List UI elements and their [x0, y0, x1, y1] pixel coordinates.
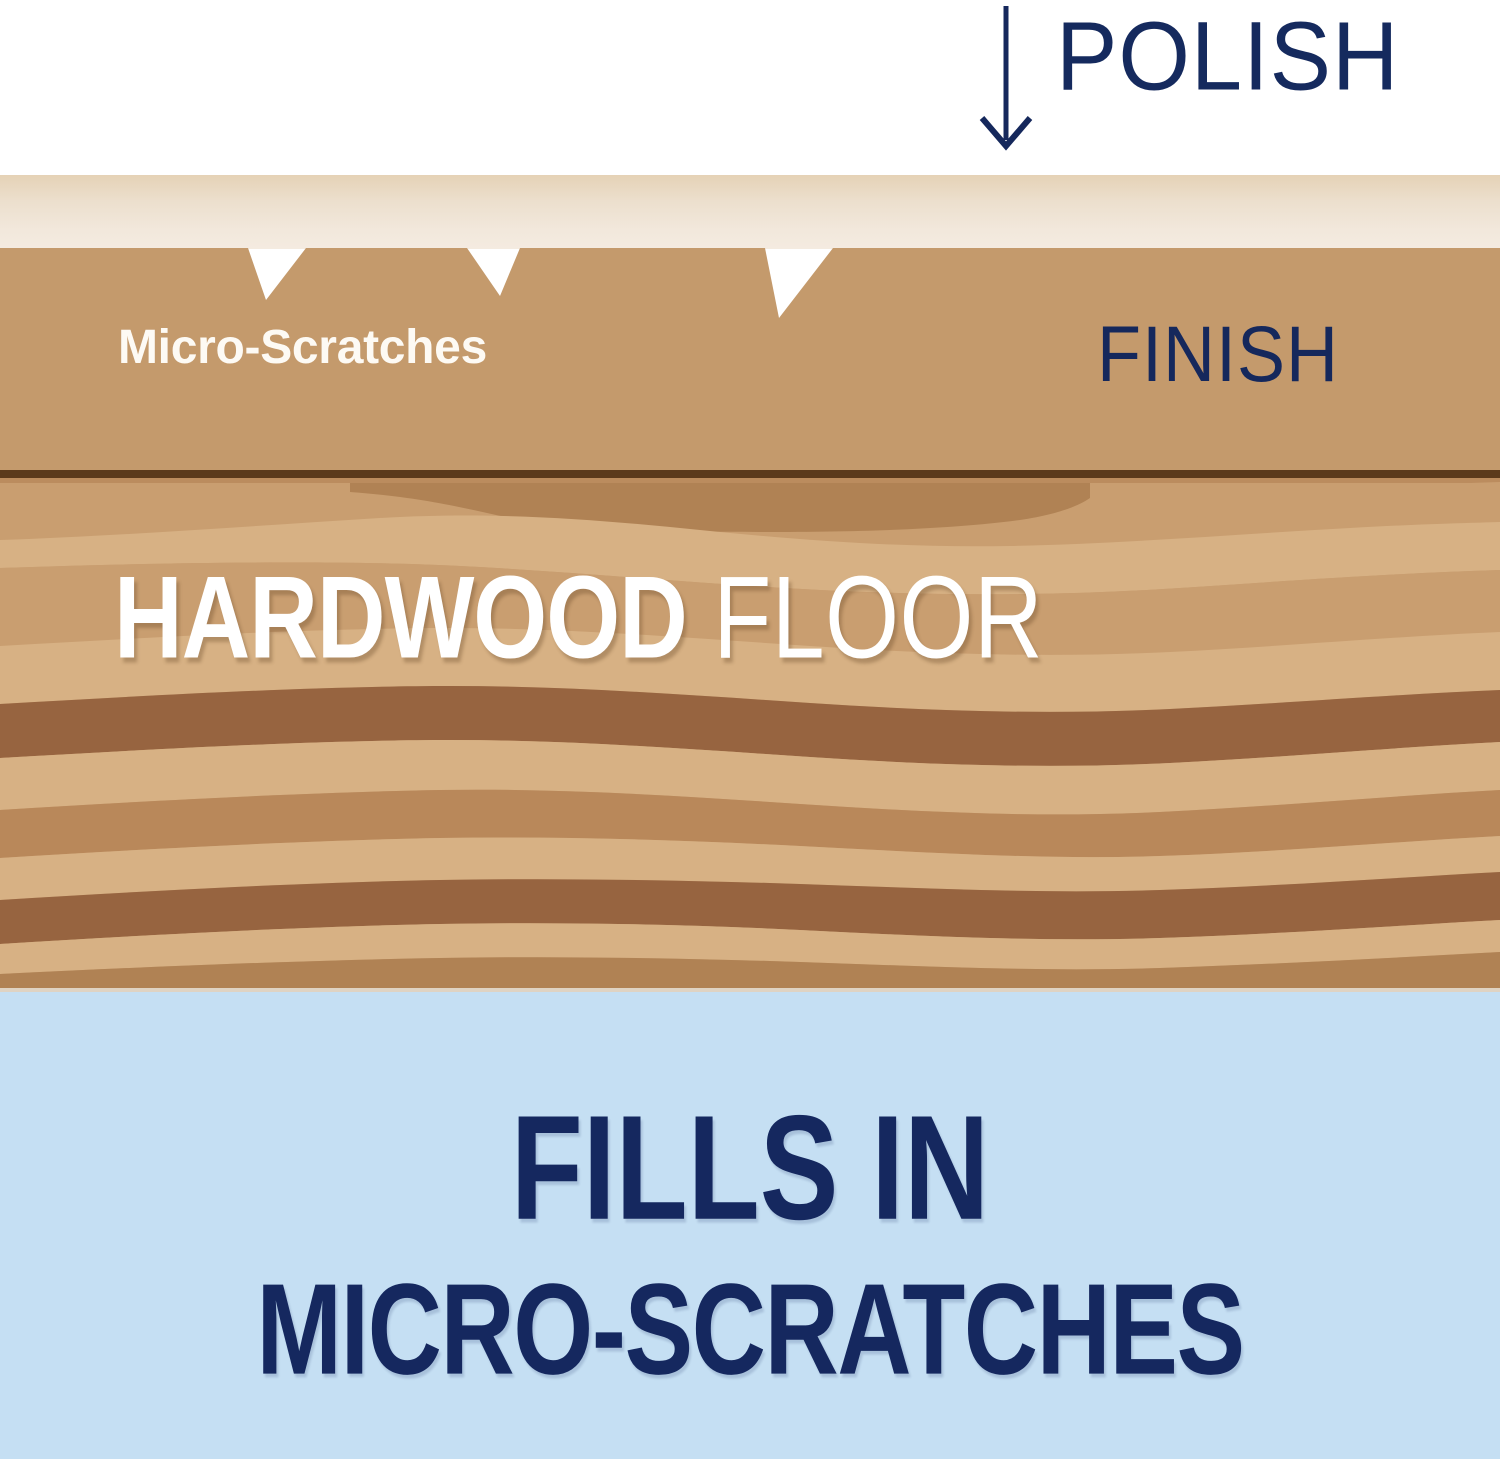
floor-word: FLOOR	[713, 553, 1043, 684]
callout-headline-line2: MICRO-SCRATCHES	[23, 1265, 1478, 1394]
hardwood-floor-space	[687, 553, 713, 684]
micro-scratches-callout-label: Micro-Scratches	[118, 324, 487, 372]
hardwood-word: HARDWOOD	[114, 553, 687, 684]
hardwood-floor-label: HARDWOOD FLOOR	[114, 560, 1043, 677]
floor-cross-section-diagram: POLISH FINISH Micro-Scratches HARDWOOD F…	[0, 0, 1500, 1459]
finish-label: FINISH	[1097, 315, 1339, 394]
callout-headline-line1: FILLS IN	[0, 1094, 1500, 1243]
polish-layer	[0, 175, 1500, 249]
polish-label: POLISH	[1056, 8, 1399, 106]
